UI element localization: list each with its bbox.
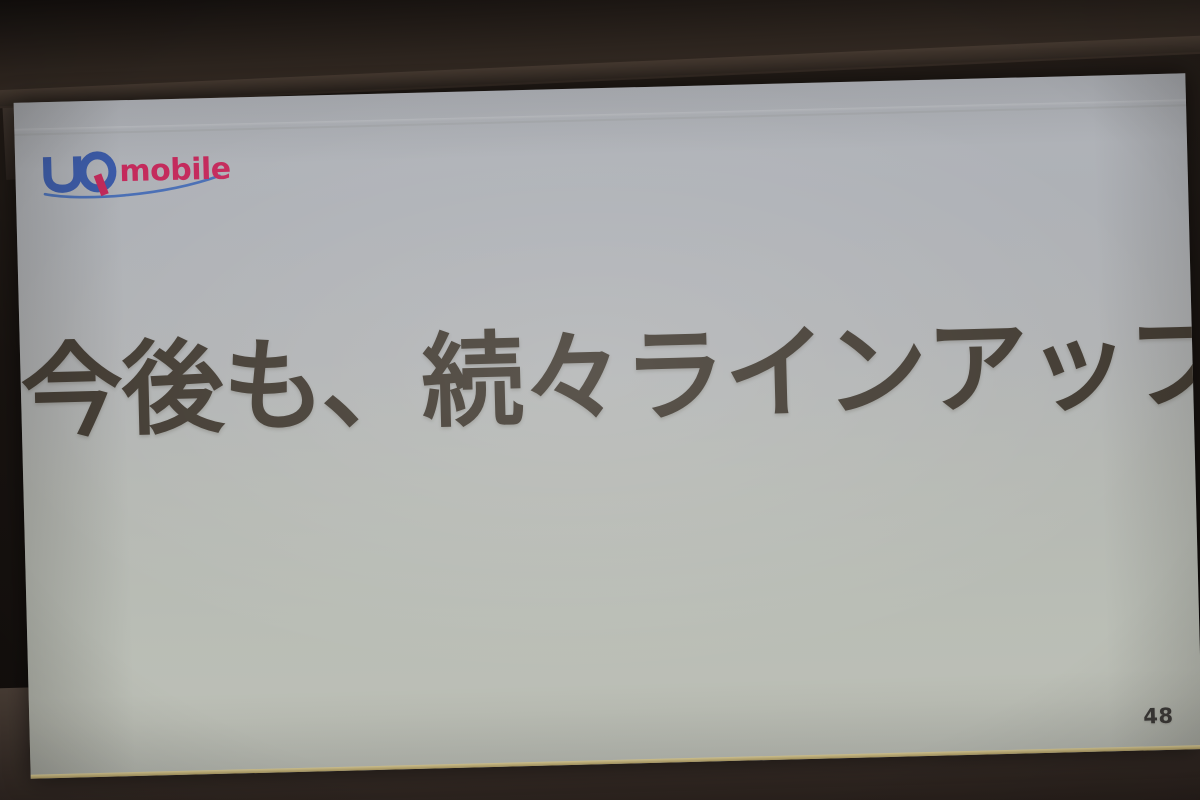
uq-mobile-logo: mobile xyxy=(41,139,242,204)
page-number: 48 xyxy=(1143,704,1174,729)
svg-text:mobile: mobile xyxy=(119,151,231,189)
conference-room-photo: mobile 今後も、続々ラインアップ 48 xyxy=(0,0,1200,800)
slide-content: mobile 今後も、続々ラインアップ 48 xyxy=(14,73,1200,778)
projection-screen: mobile 今後も、続々ラインアップ 48 xyxy=(14,73,1200,778)
projection-screen-surface: mobile 今後も、続々ラインアップ 48 xyxy=(14,73,1200,778)
slide-headline: 今後も、続々ラインアップ xyxy=(20,309,1194,449)
